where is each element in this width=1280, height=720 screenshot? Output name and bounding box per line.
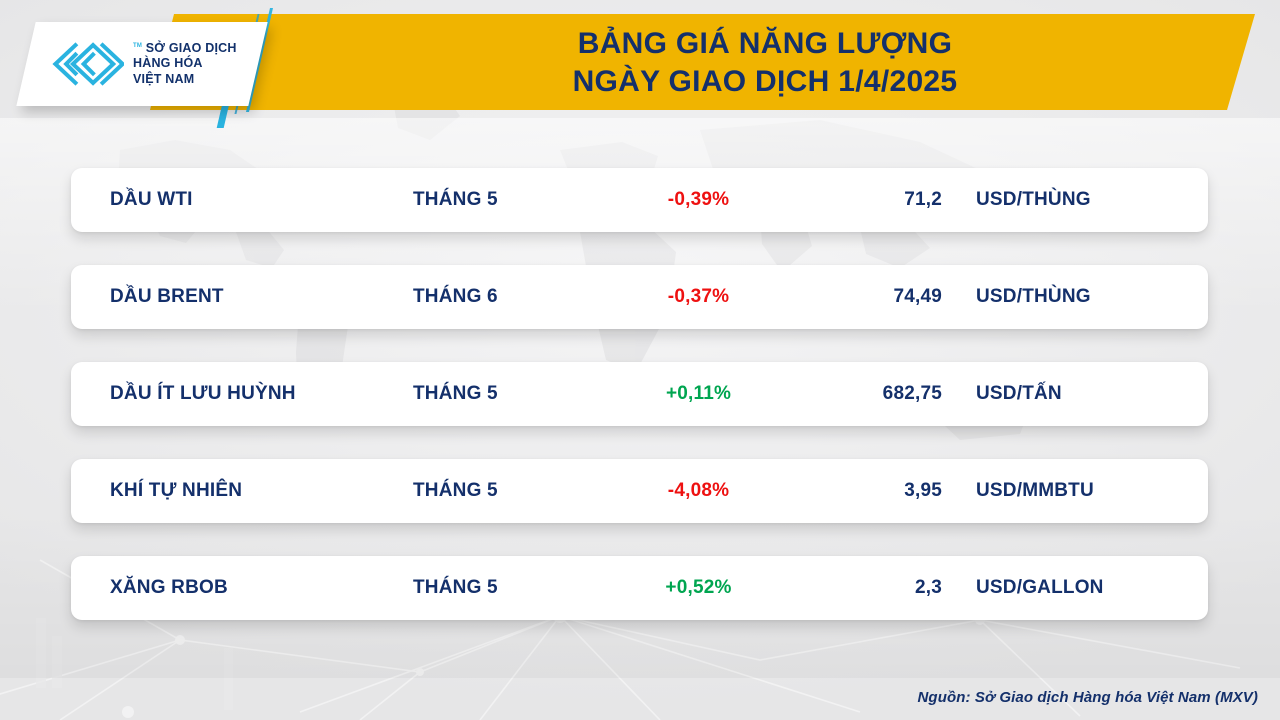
- commodity-name: KHÍ TỰ NHIÊN: [110, 480, 410, 502]
- contract-month: THÁNG 5: [413, 189, 603, 211]
- price-value: 2,3: [761, 577, 942, 599]
- source-note: Nguồn: Sở Giao dịch Hàng hóa Việt Nam (M…: [918, 689, 1259, 706]
- table-row: DẦU WTITHÁNG 5-0,39%71,2USD/THÙNG: [71, 168, 1208, 232]
- header-banner: TM SỞ GIAO DỊCH HÀNG HÓA VIỆT NAM BẢNG G…: [0, 0, 1280, 128]
- contract-month: THÁNG 5: [413, 383, 603, 405]
- mxv-logo-line-3: VIỆT NAM: [133, 72, 194, 86]
- mxv-logo-line-1: SỞ GIAO DỊCH: [146, 41, 237, 55]
- commodity-name: DẦU ÍT LƯU HUỲNH: [110, 383, 410, 405]
- price-value: 3,95: [761, 480, 942, 502]
- commodity-name: DẦU BRENT: [110, 286, 410, 308]
- contract-month: THÁNG 5: [413, 577, 603, 599]
- price-unit: USD/TẤN: [976, 383, 1206, 405]
- page-title-line-2: NGÀY GIAO DỊCH 1/4/2025: [573, 63, 958, 101]
- contract-month: THÁNG 6: [413, 286, 603, 308]
- table-row: KHÍ TỰ NHIÊNTHÁNG 5-4,08%3,95USD/MMBTU: [71, 459, 1208, 523]
- commodity-name: XĂNG RBOB: [110, 577, 410, 599]
- table-row: DẦU ÍT LƯU HUỲNHTHÁNG 5+0,11%682,75USD/T…: [71, 362, 1208, 426]
- price-unit: USD/MMBTU: [976, 480, 1206, 502]
- price-unit: USD/GALLON: [976, 577, 1206, 599]
- price-table: DẦU WTITHÁNG 5-0,39%71,2USD/THÙNGDẦU BRE…: [0, 168, 1280, 620]
- table-row: XĂNG RBOBTHÁNG 5+0,52%2,3USD/GALLON: [71, 556, 1208, 620]
- contract-month: THÁNG 5: [413, 480, 603, 502]
- price-value: 71,2: [761, 189, 942, 211]
- price-value: 74,49: [761, 286, 942, 308]
- energy-price-board: TM SỞ GIAO DỊCH HÀNG HÓA VIỆT NAM BẢNG G…: [0, 0, 1280, 720]
- trademark-symbol: TM: [133, 43, 142, 49]
- price-unit: USD/THÙNG: [976, 286, 1206, 308]
- mxv-chevron-maze-icon: [50, 41, 124, 87]
- price-unit: USD/THÙNG: [976, 189, 1206, 211]
- mxv-logo-card: TM SỞ GIAO DỊCH HÀNG HÓA VIỆT NAM: [16, 22, 267, 106]
- mxv-logo-text: TM SỞ GIAO DỊCH HÀNG HÓA VIỆT NAM: [133, 41, 237, 87]
- table-row: DẦU BRENTTHÁNG 6-0,37%74,49USD/THÙNG: [71, 265, 1208, 329]
- page-title-line-1: BẢNG GIÁ NĂNG LƯỢNG: [578, 25, 953, 63]
- commodity-name: DẦU WTI: [110, 189, 410, 211]
- price-value: 682,75: [761, 383, 942, 405]
- mxv-logo-line-2: HÀNG HÓA: [133, 56, 203, 70]
- page-title: BẢNG GIÁ NĂNG LƯỢNG NGÀY GIAO DỊCH 1/4/2…: [300, 20, 1230, 106]
